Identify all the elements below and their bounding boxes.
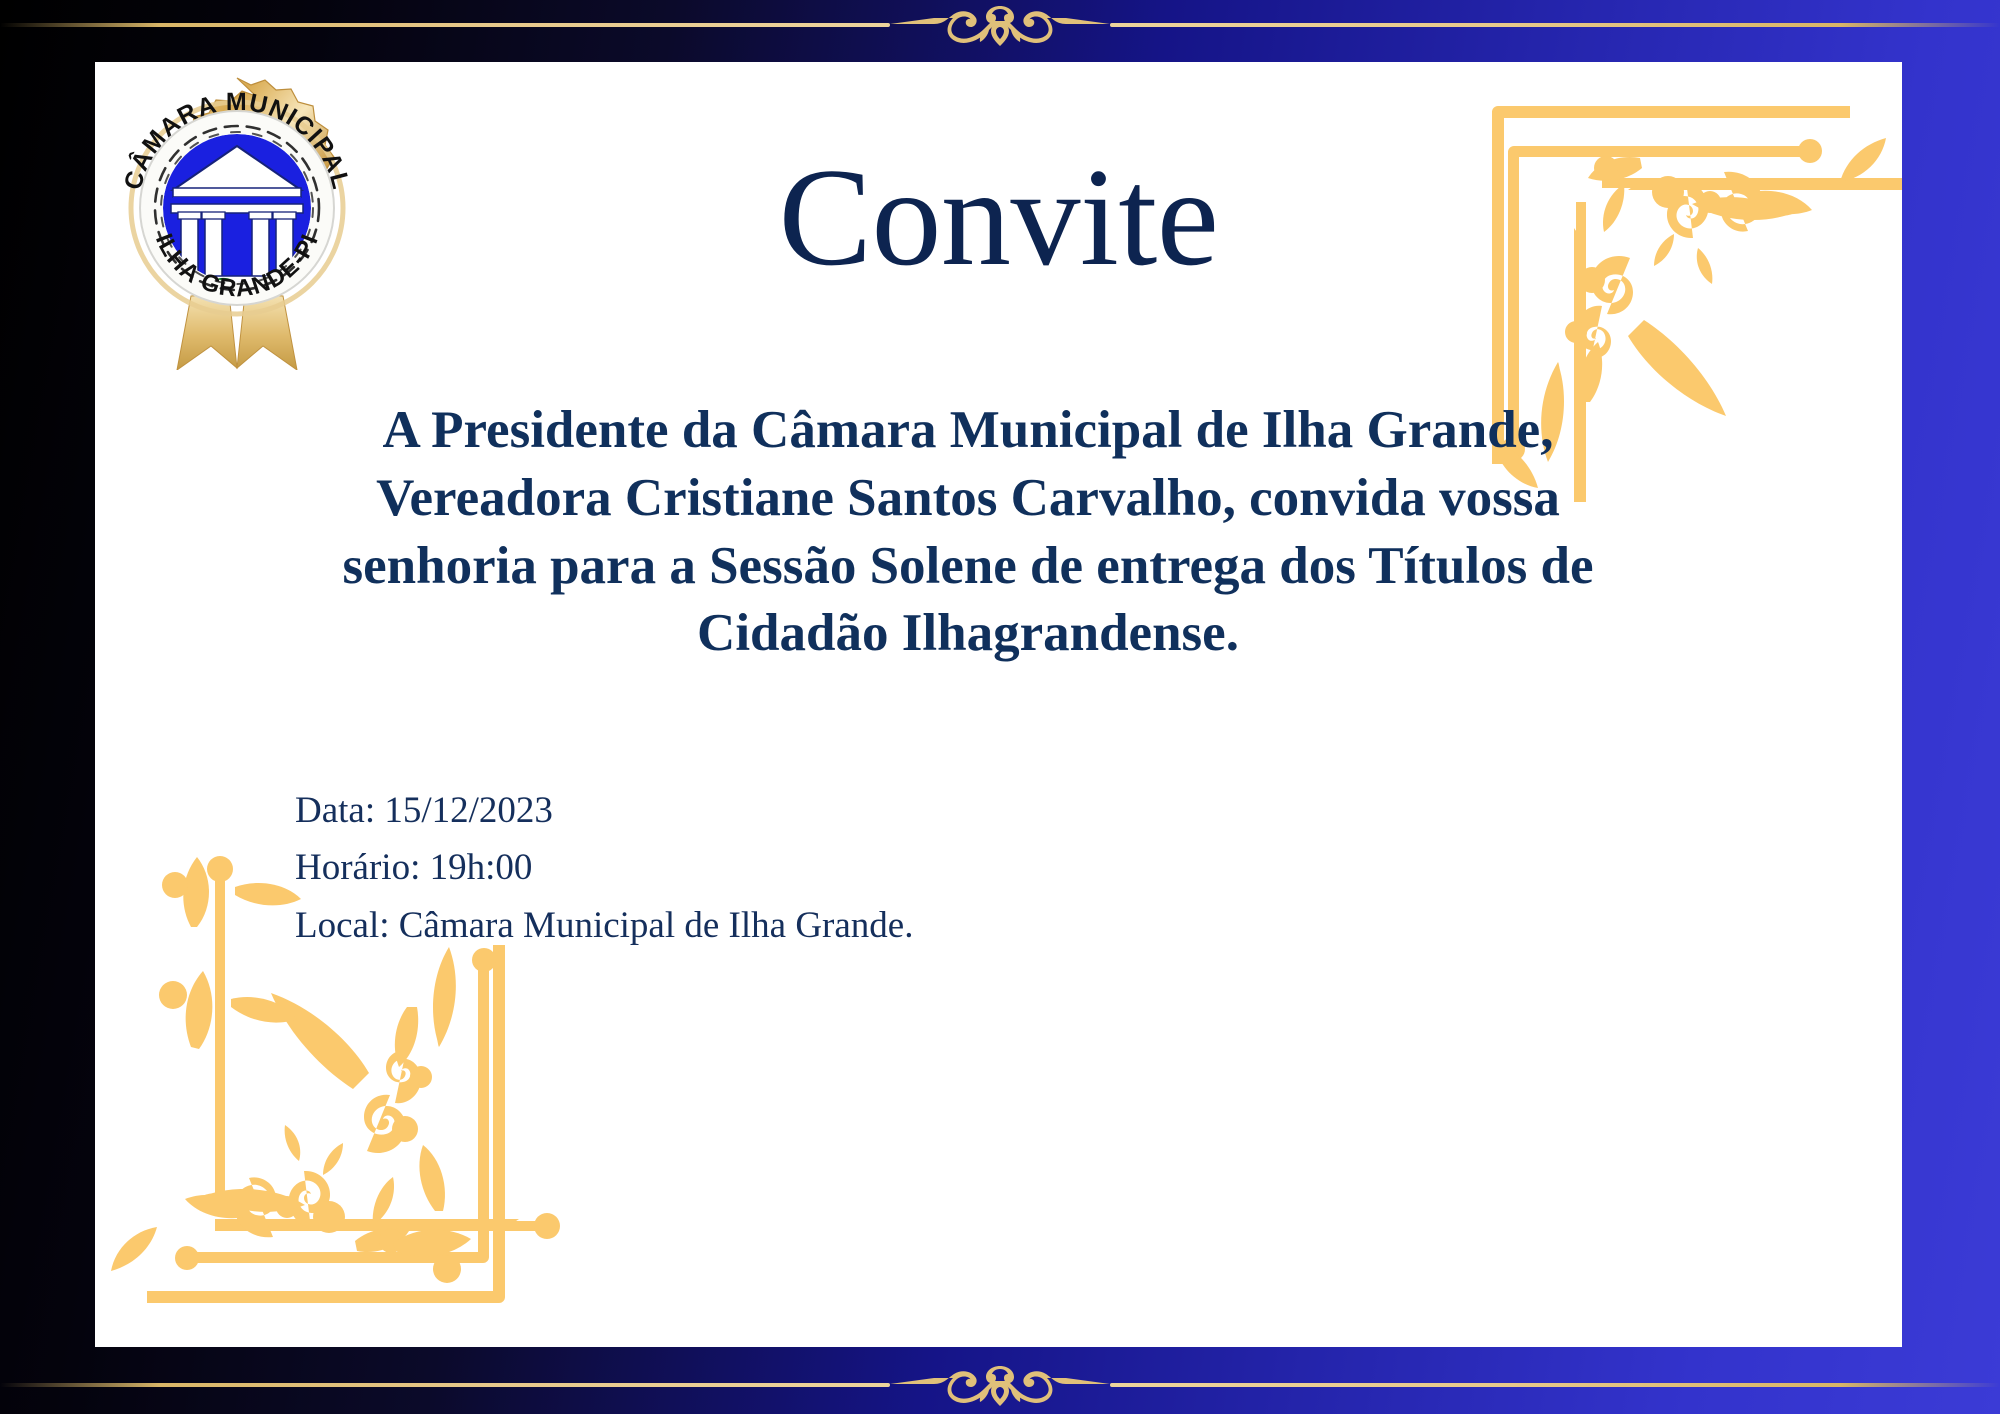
detail-date: Data: 15/12/2023 <box>295 782 913 839</box>
divider-rule-left <box>0 23 890 27</box>
divider-rule-right <box>1110 23 2000 27</box>
page-title: Convite <box>95 148 1902 288</box>
invitation-body-text: A Presidente da Câmara Municipal de Ilha… <box>323 397 1613 668</box>
top-divider <box>0 2 2000 48</box>
bottom-flourish-ornament-icon <box>890 1362 1110 1408</box>
detail-time: Horário: 19h:00 <box>295 839 913 896</box>
bottom-divider <box>0 1362 2000 1408</box>
invitation-poster: CÂMARA MUNICIPAL ILHA GRANDE-PI Convite … <box>0 0 2000 1414</box>
top-flourish-ornament-icon <box>890 2 1110 48</box>
divider-rule-left-bottom <box>0 1383 890 1387</box>
divider-rule-right-bottom <box>1110 1383 2000 1387</box>
event-details: Data: 15/12/2023 Horário: 19h:00 Local: … <box>295 782 913 954</box>
detail-location: Local: Câmara Municipal de Ilha Grande. <box>295 897 913 954</box>
invitation-card: CÂMARA MUNICIPAL ILHA GRANDE-PI Convite … <box>95 62 1902 1347</box>
